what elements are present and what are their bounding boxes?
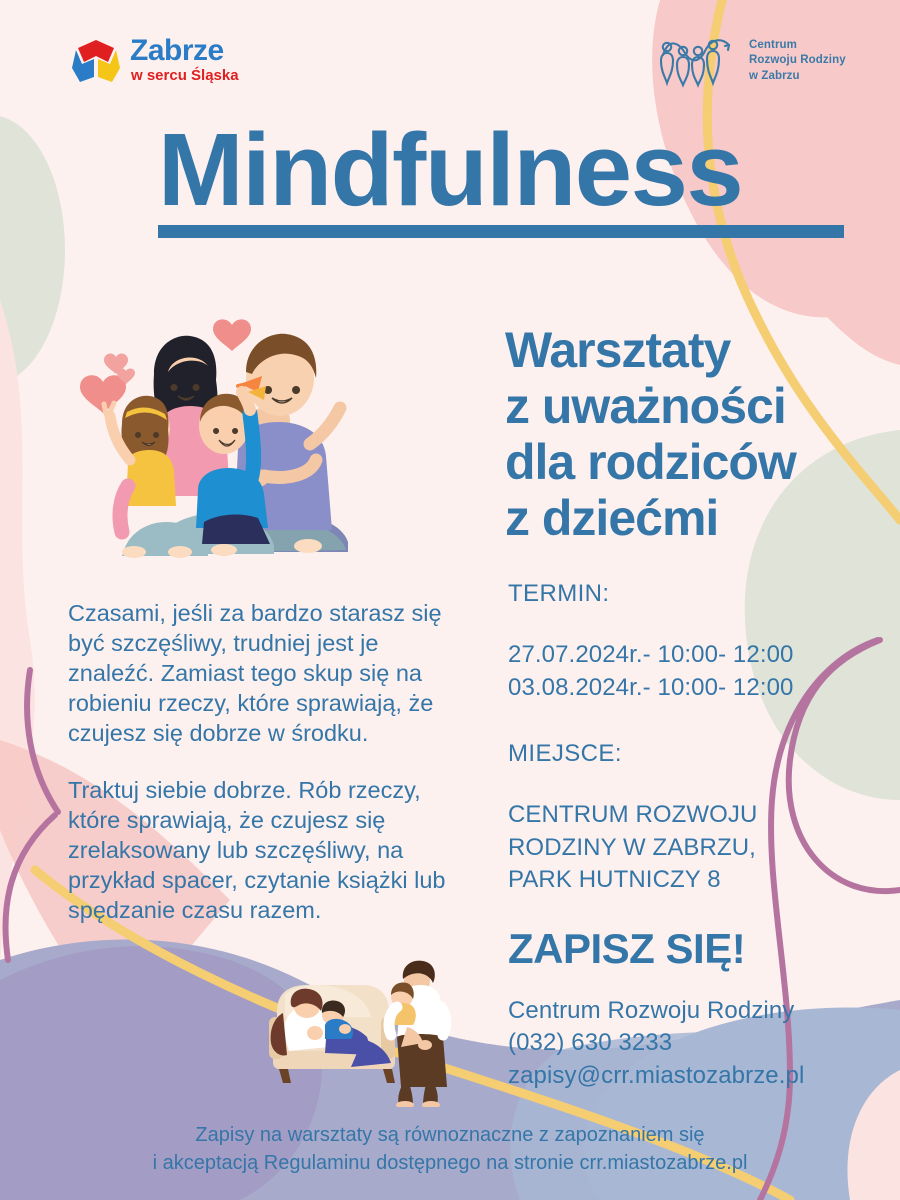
miejsce-block: MIEJSCE: CENTRUM ROZWOJU RODZINY W ZABRZ…: [508, 738, 898, 896]
poster-canvas: Zabrze w sercu Śląska Centrum Rozwoju Ro…: [0, 0, 900, 1200]
family-sofa-illustration: [255, 955, 487, 1107]
contact-value: Centrum Rozwoju Rodziny (032) 630 3233 z…: [508, 995, 898, 1092]
termin-block: TERMIN: 27.07.2024r.- 10:00- 12:00 03.08…: [508, 578, 898, 704]
crr-logo-line-2: Rozwoju Rodziny: [749, 53, 846, 68]
miejsce-line-1: CENTRUM ROZWOJU: [508, 799, 898, 831]
contact-email[interactable]: zapisy@crr.miastozabrze.pl: [508, 1060, 898, 1092]
contact-phone[interactable]: (032) 630 3233: [508, 1027, 898, 1059]
termin-label: TERMIN:: [508, 578, 898, 609]
crr-logo-people-icon: [655, 33, 741, 89]
footer-line-1: Zapisy na warsztaty są równoznaczne z za…: [0, 1122, 900, 1150]
footer-note: Zapisy na warsztaty są równoznaczne z za…: [0, 1122, 900, 1177]
headline: Warsztaty z uważności dla rodziców z dzi…: [505, 322, 885, 546]
footer-line-2: i akceptacją Regulaminu dostępnego na st…: [0, 1150, 900, 1178]
crr-logo-line-3: w Zabrzu: [749, 69, 846, 84]
poster-title: Mindfulness: [0, 118, 900, 221]
headline-line-3: dla rodziców: [505, 434, 885, 490]
miejsce-line-3: PARK HUTNICZY 8: [508, 864, 898, 896]
body-paragraph-1: Czasami, jeśli za bardzo starasz się być…: [68, 598, 458, 748]
signup-cta: ZAPISZ SIĘ!: [508, 925, 745, 973]
miejsce-line-2: RODZINY W ZABRZU,: [508, 832, 898, 864]
zabrze-logo-tagline: w sercu Śląska: [130, 66, 239, 84]
sofa-father-figure: [389, 961, 447, 1107]
contact-block: Centrum Rozwoju Rodziny (032) 630 3233 z…: [508, 995, 898, 1092]
title-underline-rule: [158, 225, 844, 238]
headline-line-4: z dziećmi: [505, 490, 885, 546]
family-hearts-illustration: [72, 300, 362, 572]
headline-line-1: Warsztaty: [505, 322, 885, 378]
zabrze-logo-mark: [72, 40, 120, 82]
poster-title-wrapper: Mindfulness: [0, 118, 900, 221]
zabrze-logo: Zabrze w sercu Śląska: [56, 28, 286, 90]
miejsce-label: MIEJSCE:: [508, 738, 898, 769]
termin-value: 27.07.2024r.- 10:00- 12:00 03.08.2024r.-…: [508, 639, 898, 704]
body-paragraph-2: Traktuj siebie dobrze. Rób rzeczy, które…: [68, 775, 458, 925]
miejsce-value: CENTRUM ROZWOJU RODZINY W ZABRZU, PARK H…: [508, 799, 898, 896]
contact-organisation: Centrum Rozwoju Rodziny: [508, 995, 898, 1027]
headline-line-2: z uważności: [505, 378, 885, 434]
termin-date-2: 03.08.2024r.- 10:00- 12:00: [508, 672, 898, 704]
crr-logo-text: Centrum Rozwoju Rodziny w Zabrzu: [749, 38, 846, 84]
zabrze-logo-wordmark: Zabrze: [130, 34, 224, 67]
crr-logo: Centrum Rozwoju Rodziny w Zabrzu: [655, 30, 875, 92]
termin-date-1: 27.07.2024r.- 10:00- 12:00: [508, 639, 898, 671]
crr-logo-line-1: Centrum: [749, 38, 846, 53]
